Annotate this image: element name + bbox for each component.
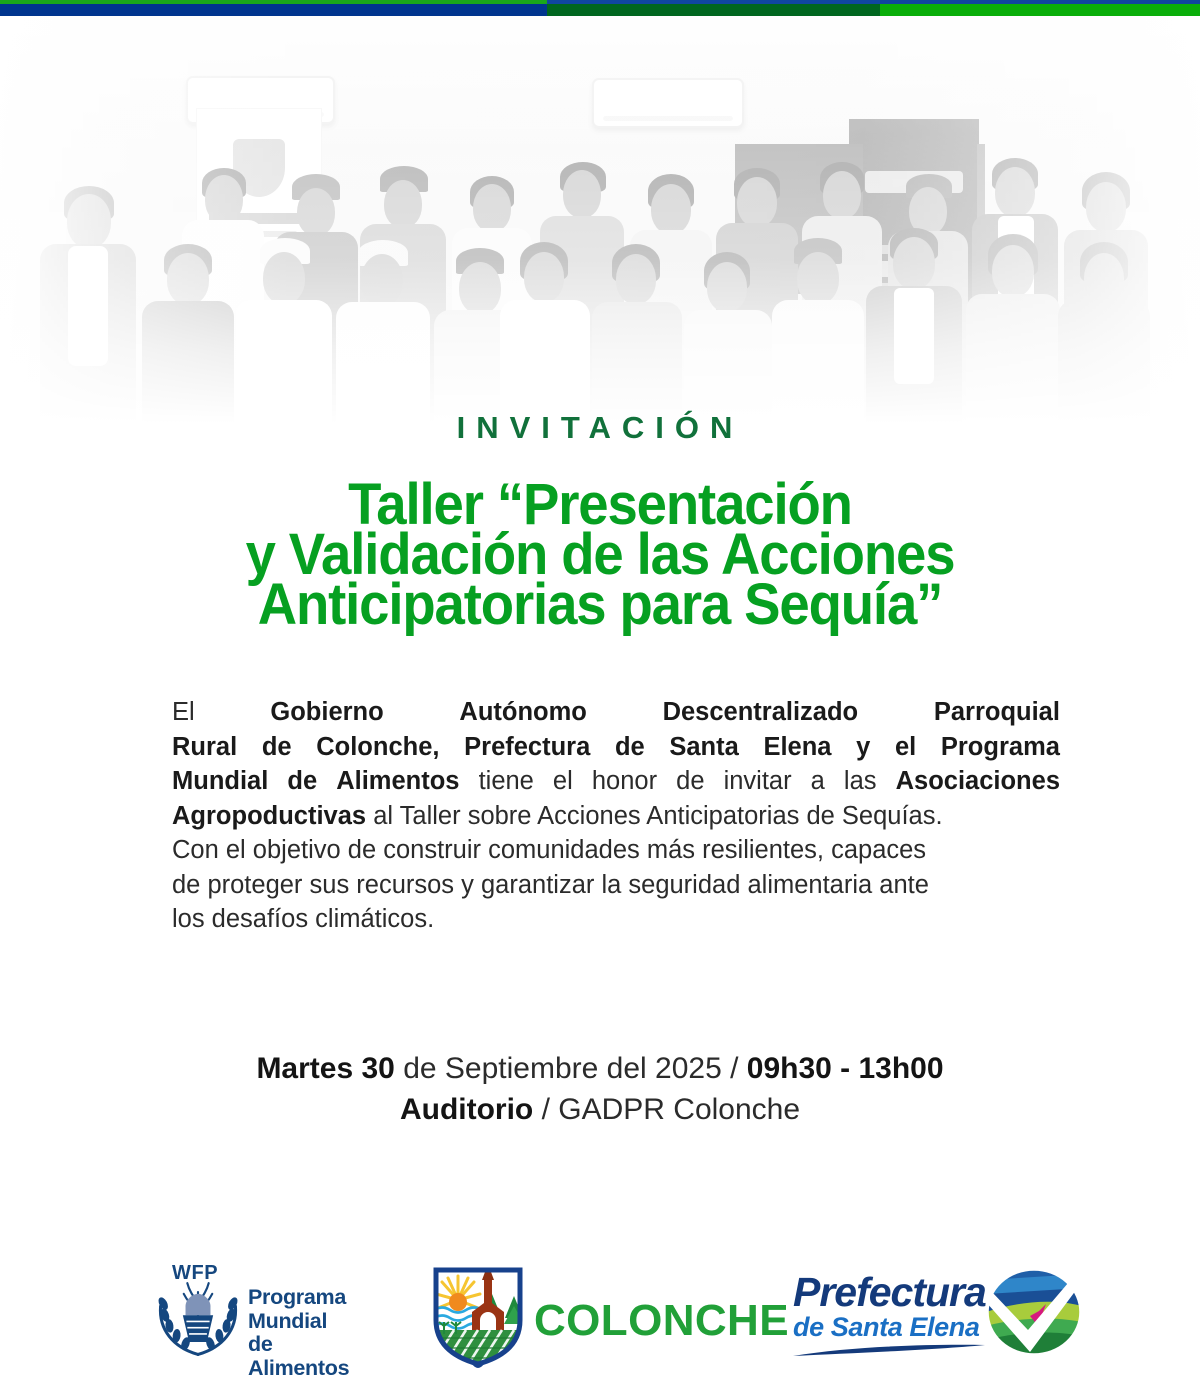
wfp-wordmark: Programa Mundial de Alimentos [248,1286,367,1380]
body-text: los desafíos climáticos. [172,905,434,933]
body-emphasis: Santa [669,730,738,765]
body-emphasis: de [287,764,317,799]
event-time: 09h30 - 13h00 [747,1052,944,1085]
body-text: invitar [724,764,792,799]
prefectura-oval-emblem-icon [986,1268,1082,1356]
body-emphasis: de [262,730,292,765]
prefectura-line-1: Prefectura [793,1272,986,1312]
body-emphasis: Asociaciones [896,764,1060,799]
prefectura-wordmark: Prefectura de Santa Elena [793,1272,986,1341]
colonche-wordmark: COLONCHE [534,1296,789,1346]
body-emphasis: Prefectura [464,730,590,765]
body-line: RuraldeColonche,PrefecturadeSantaElenaye… [172,730,1060,765]
body-text: honor [592,764,657,799]
prefectura-line-2: de Santa Elena [793,1313,986,1341]
body-emphasis: Agropoductivas [172,802,366,830]
body-text: de [676,764,704,799]
event-date-bold: Martes 30 [256,1052,394,1085]
invitation-body-text: ElGobiernoAutónomoDescentralizadoParroqu… [172,695,1060,937]
colonche-shield-crest-icon [428,1260,528,1368]
wfp-line-3: de Alimentos [248,1333,367,1380]
body-line: ElGobiernoAutónomoDescentralizadoParroqu… [172,695,1060,730]
topbar-green-accent-strip [0,0,547,4]
body-emphasis: Mundial [172,764,268,799]
event-title: Taller “Presentación y Validación de las… [36,480,1164,630]
topbar-blue-accent-strip [547,0,1200,4]
event-venue-line: Auditorio / GADPR Colonche [0,1089,1200,1130]
photo-white-fade-overlay [0,16,1200,436]
invitation-poster: INVITACIÓN Taller “Presentación y Valida… [0,0,1200,1400]
partner-logo-row: WFP [0,1258,1200,1378]
body-emphasis: y [856,730,870,765]
body-emphasis: Descentralizado [663,695,859,730]
event-title-line-3: Anticipatorias para Sequía” [74,580,1127,630]
body-emphasis: Programa [941,730,1060,765]
body-emphasis: Autónomo [459,695,586,730]
body-emphasis: Rural [172,730,237,765]
top-color-bar [0,0,1200,16]
logo-colonche: COLONCHE [428,1258,738,1376]
wfp-line-2: Mundial [248,1310,367,1334]
body-text: el [553,764,573,799]
body-text: Con el objetivo de construir comunidades… [172,836,926,864]
body-emphasis: Gobierno [270,695,383,730]
event-venue-rest: / GADPR Colonche [533,1093,800,1126]
body-line: los desafíos climáticos. [172,902,1060,937]
body-line: de proteger sus recursos y garantizar la… [172,868,1060,903]
body-emphasis: Alimentos [336,764,459,799]
body-line: Agropoductivas al Taller sobre Acciones … [172,799,1060,834]
event-date-rest: de Septiembre del 2025 / [395,1052,747,1085]
event-details: Martes 30 de Septiembre del 2025 / 09h30… [0,1048,1200,1130]
event-date-time-line: Martes 30 de Septiembre del 2025 / 09h30… [0,1048,1200,1089]
wfp-laurel-wheat-hand-icon [152,1276,244,1358]
body-emphasis: Elena [763,730,831,765]
body-line: Con el objetivo de construir comunidades… [172,833,1060,868]
body-text: a [811,764,825,799]
body-line: MundialdeAlimentostieneelhonordeinvitara… [172,764,1060,799]
body-text: tiene [479,764,534,799]
body-emphasis: el [895,730,916,765]
event-venue-bold: Auditorio [400,1093,533,1126]
invitation-kicker: INVITACIÓN [0,410,1200,446]
prefectura-swoosh-icon [793,1344,985,1357]
group-photo-header [0,16,1200,436]
logo-wfp: WFP [152,1266,367,1366]
body-text: al Taller sobre Acciones Anticipatorias … [373,802,942,830]
body-emphasis: Parroquial [934,695,1060,730]
body-text: El [172,695,195,730]
body-text: las [844,764,877,799]
logo-prefectura-santa-elena: Prefectura de Santa Elena [793,1266,1079,1370]
body-emphasis: Colonche, [316,730,439,765]
body-emphasis: de [615,730,645,765]
wfp-line-1: Programa [248,1286,367,1310]
body-text: de proteger sus recursos y garantizar la… [172,871,929,899]
